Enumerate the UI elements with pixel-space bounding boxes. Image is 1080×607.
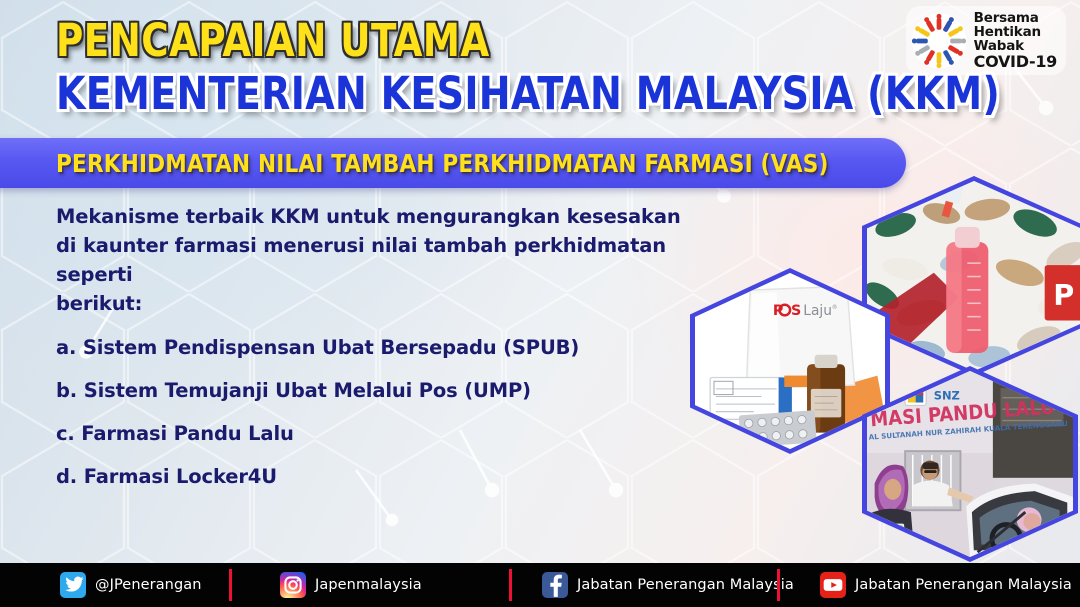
facebook-icon: [542, 572, 568, 598]
instagram-icon: [280, 572, 306, 598]
page-title-line1: PENCAPAIAN UTAMA: [56, 18, 980, 64]
covid19-logo-text: Bersama Hentikan Wabak COVID-19: [974, 11, 1057, 70]
twitter-handle: @JPenerangan: [95, 577, 202, 593]
svg-text:S: S: [791, 303, 801, 319]
photo-poslaju-image: P S Laju ®: [695, 273, 885, 449]
page-title-line2: KEMENTERIAN KESIHATAN MALAYSIA (KKM): [56, 71, 1000, 117]
list-item: c. Farmasi Pandu Lalu: [56, 422, 696, 445]
subtitle-banner-text: PERKHIDMATAN NILAI TAMBAH PERKHIDMATAN F…: [56, 149, 829, 178]
photo-medicines-image: P: [867, 181, 1080, 371]
youtube-icon: [820, 572, 846, 598]
body-content: Mekanisme terbaik KKM untuk mengurangkan…: [56, 203, 696, 508]
intro-paragraph: Mekanisme terbaik KKM untuk mengurangkan…: [56, 203, 696, 318]
social-account-facebook[interactable]: Jabatan Penerangan Malaysia: [512, 563, 780, 607]
youtube-channel-name: Jabatan Penerangan Malaysia: [855, 577, 1072, 593]
social-account-youtube[interactable]: Jabatan Penerangan Malaysia: [780, 563, 1080, 607]
photo-medicines-hexagon: P: [862, 176, 1080, 376]
logo-line-4: COVID-19: [974, 54, 1057, 71]
photo-drive-through-pharmacy-hexagon: SNZ MASI PANDU LALU AL SULTANAH NUR ZAHI…: [862, 366, 1078, 562]
photo-drive-through-image: SNZ MASI PANDU LALU AL SULTANAH NUR ZAHI…: [867, 371, 1073, 557]
svg-text:P: P: [1053, 278, 1074, 312]
intro-line-1: Mekanisme terbaik KKM untuk mengurangkan…: [56, 203, 696, 232]
intro-line-2: di kaunter farmasi menerusi nilai tambah…: [56, 232, 696, 290]
services-list: a. Sistem Pendispensan Ubat Bersepadu (S…: [56, 336, 696, 488]
infographic-poster: PENCAPAIAN UTAMA KEMENTERIAN KESIHATAN M…: [0, 0, 1080, 607]
covid19-campaign-logo: Bersama Hentikan Wabak COVID-19: [906, 6, 1066, 75]
bersama-hentikan-wabak-icon: [911, 13, 967, 69]
medicines-illustration: P: [867, 181, 1080, 371]
subtitle-banner: PERKHIDMATAN NILAI TAMBAH PERKHIDMATAN F…: [0, 138, 906, 188]
poslaju-parcel-illustration: P S Laju ®: [695, 273, 885, 449]
social-media-footer: @JPenerangan Japenmalaysia Jabatan Pener…: [0, 563, 1080, 607]
svg-text:Laju: Laju: [803, 303, 832, 319]
logo-line-1: Bersama: [974, 11, 1057, 25]
instagram-handle: Japenmalaysia: [315, 577, 422, 593]
social-account-instagram[interactable]: Japenmalaysia: [232, 563, 512, 607]
facebook-page-name: Jabatan Penerangan Malaysia: [577, 577, 794, 593]
logo-line-2: Hentikan: [974, 25, 1057, 39]
list-item: a. Sistem Pendispensan Ubat Bersepadu (S…: [56, 336, 696, 359]
svg-text:®: ®: [832, 304, 838, 311]
twitter-icon: [60, 572, 86, 598]
social-account-twitter[interactable]: @JPenerangan: [0, 563, 232, 607]
drive-through-pharmacy-illustration: SNZ MASI PANDU LALU AL SULTANAH NUR ZAHI…: [867, 371, 1073, 557]
list-item: d. Farmasi Locker4U: [56, 465, 696, 488]
list-item: b. Sistem Temujanji Ubat Melalui Pos (UM…: [56, 379, 696, 402]
photo-poslaju-parcel-hexagon: P S Laju ®: [690, 268, 890, 454]
intro-line-3: berikut:: [56, 290, 696, 319]
